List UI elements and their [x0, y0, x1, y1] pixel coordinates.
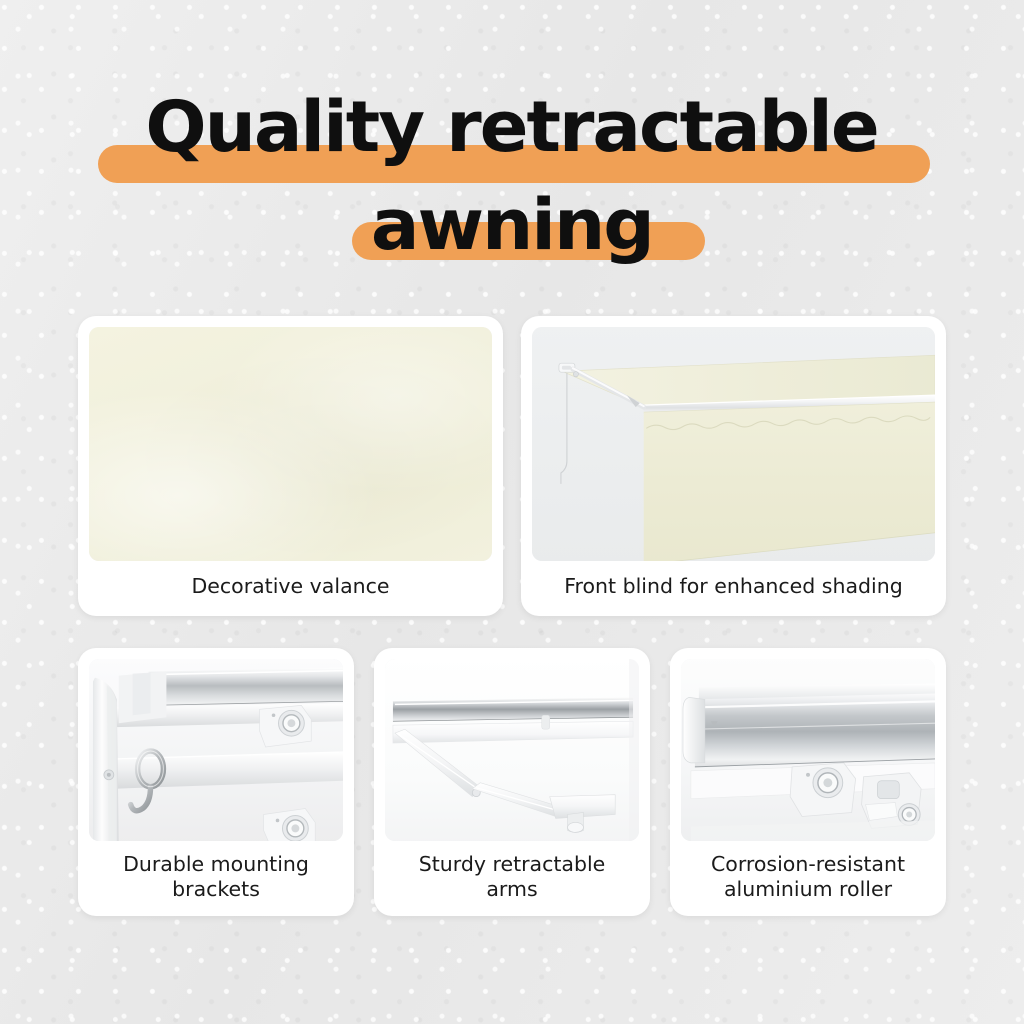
decorative-valance-caption: Decorative valance: [78, 561, 503, 616]
feature-card-row-bottom: Durable mounting brackets: [78, 648, 946, 916]
page-title: Quality retractable awning: [0, 92, 1024, 272]
mounting-brackets-caption-line2: brackets: [86, 877, 346, 902]
aluminium-roller-caption-line2: aluminium roller: [678, 877, 938, 902]
product-feature-infographic: Quality retractable awning Decorative va…: [0, 0, 1024, 1024]
mounting-brackets-image: [89, 659, 343, 841]
heading-line-2: awning: [0, 190, 1024, 272]
feature-card-aluminium-roller[interactable]: Corrosion-resistant aluminium roller: [670, 648, 946, 916]
feature-card-retractable-arms[interactable]: Sturdy retractable arms: [374, 648, 650, 916]
bracket-bolt-lower: [264, 809, 316, 841]
feature-card-front-blind[interactable]: Front blind for enhanced shading: [521, 316, 946, 616]
aluminium-roller-photo: [681, 659, 935, 841]
aluminium-roller-image: [681, 659, 935, 841]
retractable-arms-image: [385, 659, 639, 841]
awning-front-blind-illustration: [532, 327, 935, 561]
aluminium-roller-caption-line1: Corrosion-resistant: [678, 852, 938, 877]
front-blind-image: [532, 327, 935, 561]
front-blind-caption: Front blind for enhanced shading: [521, 561, 946, 616]
decorative-valance-image: [89, 327, 492, 561]
mounting-bracket-photo: [89, 659, 343, 841]
roller-bracket-right: [862, 773, 922, 829]
folding-arm-photo: [385, 659, 639, 841]
retractable-arms-caption: Sturdy retractable arms: [374, 841, 650, 916]
heading-line-1: Quality retractable: [0, 92, 1024, 186]
heading-text-line-1: Quality retractable: [146, 92, 878, 162]
roller-bracket-center: [790, 763, 855, 817]
retractable-arms-caption-line1: Sturdy retractable: [382, 852, 642, 877]
aluminium-roller-caption: Corrosion-resistant aluminium roller: [670, 841, 946, 916]
heading-text-line-2: awning: [371, 190, 653, 260]
bracket-bolt-upper: [260, 705, 312, 747]
mounting-brackets-caption: Durable mounting brackets: [78, 841, 354, 916]
cream-fabric-swatch: [89, 327, 492, 561]
feature-card-decorative-valance[interactable]: Decorative valance: [78, 316, 503, 616]
retractable-arms-caption-line2: arms: [382, 877, 642, 902]
mounting-brackets-caption-line1: Durable mounting: [86, 852, 346, 877]
feature-card-mounting-brackets[interactable]: Durable mounting brackets: [78, 648, 354, 916]
feature-card-row-top: Decorative valance: [78, 316, 946, 616]
